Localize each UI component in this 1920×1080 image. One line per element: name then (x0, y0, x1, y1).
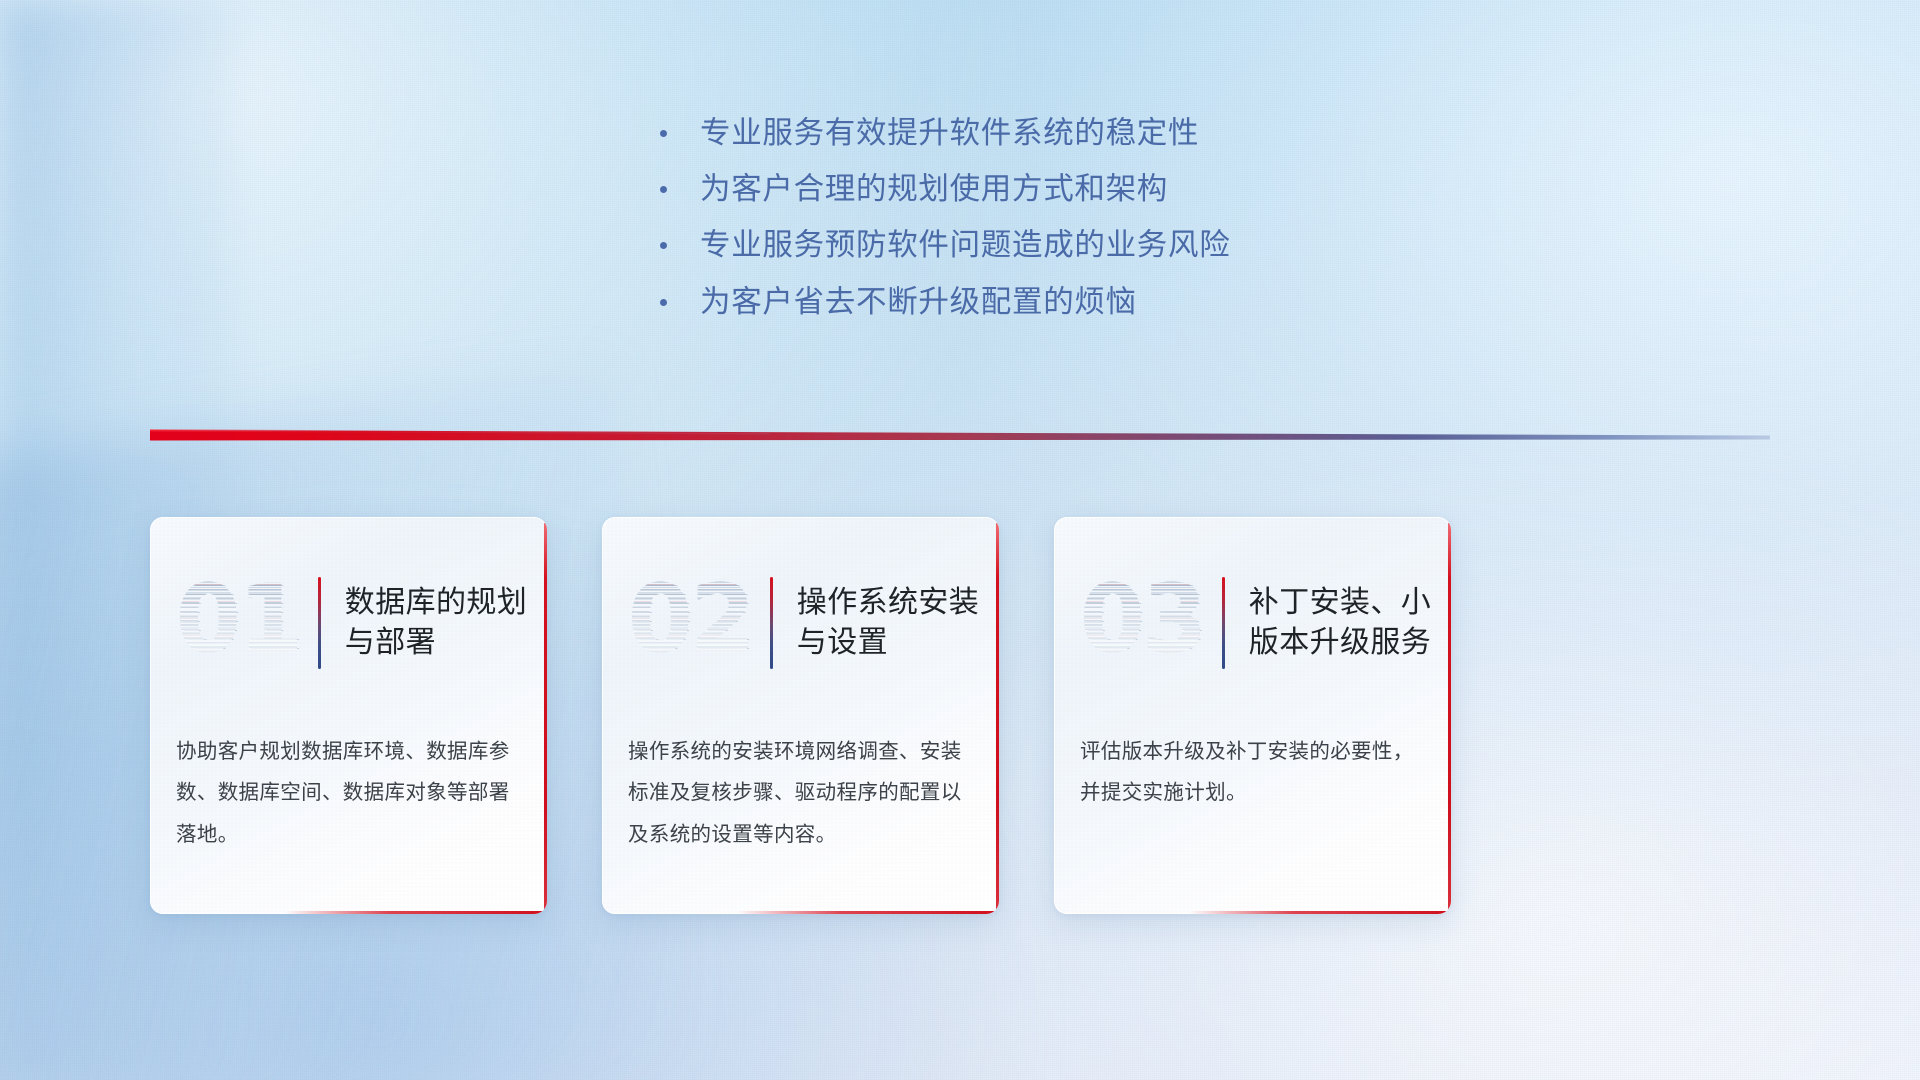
card-title-line-2: 与部署 (345, 623, 527, 663)
card-title-line-2: 版本升级服务 (1249, 623, 1431, 663)
card-title-line-2: 与设置 (797, 623, 979, 663)
list-item: 专业服务有效提升软件系统的稳定性 (660, 115, 1420, 152)
card-accent-bottom-border (285, 911, 547, 914)
card-title-rule (318, 577, 321, 669)
bullet-text: 专业服务有效提升软件系统的稳定性 (700, 115, 1199, 152)
card-number-scanline-02: 02 02 02 02 (628, 567, 752, 671)
service-card-02[interactable]: 02 02 02 02 操作系统安装 与设置 操作系统的安装环境网络调查、安装标… (602, 517, 999, 914)
card-title-line-1: 补丁安装、小 (1249, 583, 1431, 623)
card-description: 操作系统的安装环境网络调查、安装标准及复核步骤、驱动程序的配置以及系统的设置等内… (602, 731, 999, 855)
bullet-dot-icon (660, 130, 667, 137)
card-header: 03 03 03 03 补丁安装、小 版本升级服务 (1054, 517, 1451, 729)
list-item: 为客户省去不断升级配置的烦恼 (660, 284, 1420, 321)
bullet-text: 为客户省去不断升级配置的烦恼 (700, 284, 1137, 321)
card-accent-bottom-border (1189, 911, 1451, 914)
card-title: 补丁安装、小 版本升级服务 (1249, 583, 1431, 662)
list-item: 专业服务预防软件问题造成的业务风险 (660, 227, 1420, 264)
card-title-rule (770, 577, 773, 669)
bullet-dot-icon (660, 242, 667, 249)
card-number-layer-fade: 02 (628, 567, 752, 671)
card-description: 协助客户规划数据库环境、数据库参数、数据库空间、数据库对象等部署落地。 (150, 731, 547, 855)
card-title: 操作系统安装 与设置 (797, 583, 979, 662)
card-number-layer-fade: 03 (1080, 567, 1204, 671)
card-title: 数据库的规划 与部署 (345, 583, 527, 662)
card-header: 02 02 02 02 操作系统安装 与设置 (602, 517, 999, 729)
slide-canvas: 专业服务有效提升软件系统的稳定性 为客户合理的规划使用方式和架构 专业服务预防软… (0, 0, 1920, 1080)
card-header: 01 01 01 01 数据库的规划 与部署 (150, 517, 547, 729)
tapered-divider (150, 418, 1770, 458)
card-number-scanline-01: 01 01 01 01 (176, 567, 300, 671)
card-title-line-1: 数据库的规划 (345, 583, 527, 623)
service-card-list: 01 01 01 01 数据库的规划 与部署 协助客户规划数据库环境、数据库参数… (150, 517, 1451, 914)
card-title-line-1: 操作系统安装 (797, 583, 979, 623)
card-number-layer-fade: 01 (176, 567, 300, 671)
service-card-03[interactable]: 03 03 03 03 补丁安装、小 版本升级服务 评估版本升级及补丁安装的必要… (1054, 517, 1451, 914)
card-number-scanline-03: 03 03 03 03 (1080, 567, 1204, 671)
card-accent-bottom-border (737, 911, 999, 914)
card-title-rule (1222, 577, 1225, 669)
bullet-text: 为客户合理的规划使用方式和架构 (700, 171, 1168, 208)
service-card-01[interactable]: 01 01 01 01 数据库的规划 与部署 协助客户规划数据库环境、数据库参数… (150, 517, 547, 914)
bullet-text: 专业服务预防软件问题造成的业务风险 (700, 227, 1230, 264)
card-description: 评估版本升级及补丁安装的必要性，并提交实施计划。 (1054, 731, 1451, 814)
bullet-dot-icon (660, 299, 667, 306)
list-item: 为客户合理的规划使用方式和架构 (660, 171, 1420, 208)
benefits-bullet-list: 专业服务有效提升软件系统的稳定性 为客户合理的规划使用方式和架构 专业服务预防软… (660, 115, 1420, 321)
bullet-dot-icon (660, 186, 667, 193)
